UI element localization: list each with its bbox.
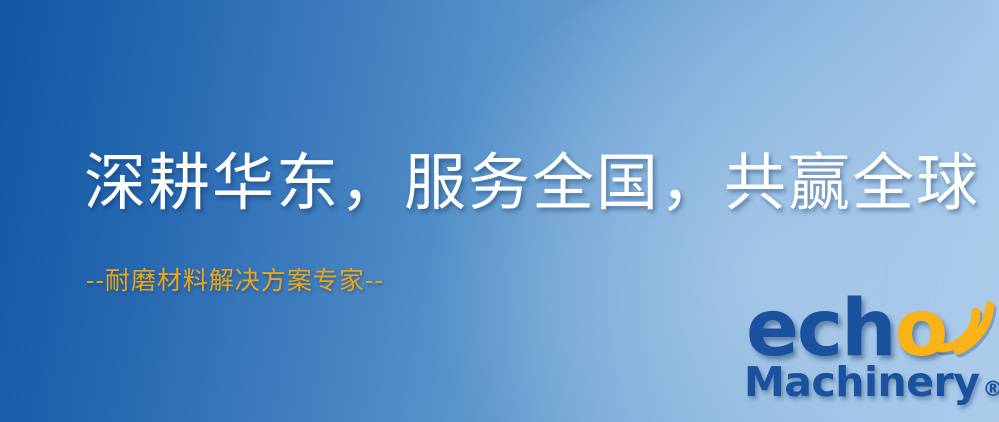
- banner-subtitle: --耐磨材料解决方案专家--: [86, 268, 384, 293]
- logo-brand-line: Machinery®: [744, 362, 999, 403]
- banner-headline: 深耕华东，服务全国，共赢全球: [84, 152, 980, 214]
- logo-machinery-text: Machinery: [744, 358, 979, 406]
- promo-banner: 深耕华东，服务全国，共赢全球 --耐磨材料解决方案专家-- echo Machi…: [0, 0, 999, 422]
- logo-echo-text: echo: [746, 290, 946, 368]
- registered-trademark-icon: ®: [982, 377, 999, 401]
- signal-arcs-icon: [920, 292, 994, 358]
- company-logo: echo Machinery®: [742, 296, 994, 418]
